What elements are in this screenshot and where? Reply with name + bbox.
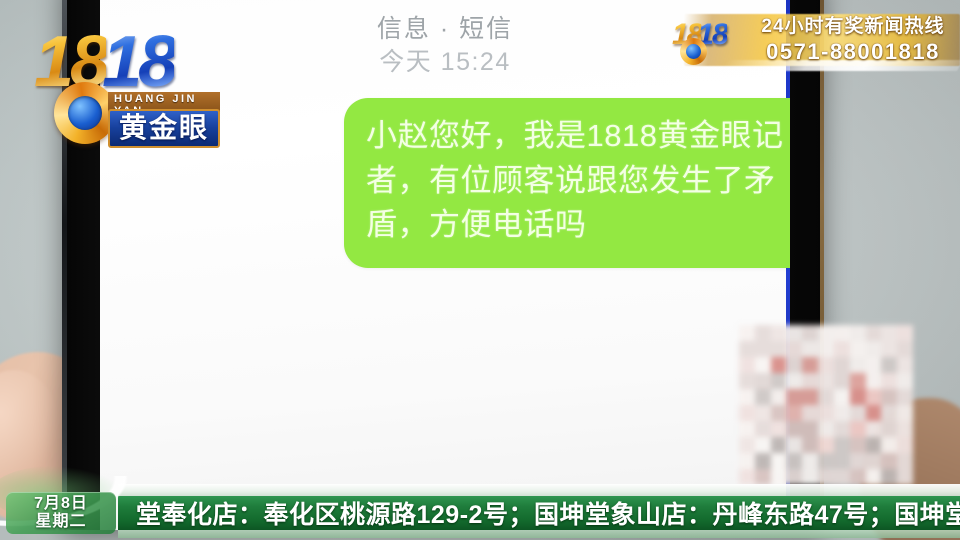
mosaic-cell — [802, 405, 818, 421]
mosaic-cell — [771, 325, 787, 341]
mosaic-cell — [818, 357, 834, 373]
mosaic-cell — [739, 437, 755, 453]
mosaic-cell — [739, 389, 755, 405]
mosaic-cell — [850, 341, 866, 357]
mosaic-cell — [771, 373, 787, 389]
mosaic-cell — [850, 405, 866, 421]
station-logo-ring-icon — [54, 82, 116, 144]
mosaic-cell — [739, 405, 755, 421]
mosaic-cell — [850, 389, 866, 405]
mosaic-cell — [866, 389, 882, 405]
mosaic-cell — [866, 421, 882, 437]
station-logo: 1818 HUANG JIN YAN 黄金眼 — [34, 26, 220, 150]
hotline-banner: 1818 24小时有奖新闻热线 0571-88001818 — [660, 14, 960, 72]
date-badge-weekday: 星期二 — [35, 513, 86, 531]
mosaic-cell — [786, 341, 802, 357]
mosaic-cell — [818, 325, 834, 341]
mosaic-cell — [881, 421, 897, 437]
mosaic-cell — [897, 325, 913, 341]
date-badge: 7月8日 星期二 — [6, 492, 116, 534]
ticker-bar: 堂奉化店：奉化区桃源路129-2号；国坤堂象山店：丹峰东路47号；国坤堂台州 — [118, 496, 960, 530]
mosaic-cell — [866, 325, 882, 341]
mosaic-cell — [739, 421, 755, 437]
mosaic-cell — [755, 437, 771, 453]
mosaic-cell — [818, 341, 834, 357]
mosaic-cell — [881, 341, 897, 357]
station-logo-digits-blue: 18 — [102, 22, 174, 102]
mosaic-cell — [881, 357, 897, 373]
mosaic-cell — [834, 325, 850, 341]
mosaic-cell — [897, 437, 913, 453]
mosaic-cell — [834, 453, 850, 469]
mosaic-cell — [818, 453, 834, 469]
mosaic-cell — [802, 341, 818, 357]
mosaic-cell — [866, 437, 882, 453]
hotline-title: 24小时有奖新闻热线 — [748, 15, 958, 39]
mosaic-cell — [802, 437, 818, 453]
mosaic-cell — [818, 405, 834, 421]
mosaic-cell — [771, 421, 787, 437]
mosaic-cell — [755, 373, 771, 389]
hotline-logo-ring-icon — [680, 38, 707, 65]
mosaic-cell — [771, 389, 787, 405]
mosaic-cell — [834, 421, 850, 437]
ticker-bottom-rail — [118, 530, 960, 538]
mosaic-cell — [818, 421, 834, 437]
mosaic-cell — [802, 373, 818, 389]
ticker-text: 堂奉化店：奉化区桃源路129-2号；国坤堂象山店：丹峰东路47号；国坤堂台州 — [118, 496, 960, 530]
mosaic-cell — [786, 373, 802, 389]
mosaic-cell — [866, 357, 882, 373]
date-badge-date: 7月8日 — [34, 495, 88, 513]
mosaic-cell — [771, 453, 787, 469]
mosaic-cell — [866, 405, 882, 421]
mosaic-cell — [866, 341, 882, 357]
mosaic-cell — [802, 453, 818, 469]
mosaic-cell — [802, 325, 818, 341]
bottom-ticker: 堂奉化店：奉化区桃源路129-2号；国坤堂象山店：丹峰东路47号；国坤堂台州 7… — [0, 480, 960, 540]
mosaic-cell — [850, 357, 866, 373]
mosaic-cell — [818, 389, 834, 405]
mosaic-cell — [881, 453, 897, 469]
mosaic-cell — [881, 437, 897, 453]
mosaic-cell — [786, 421, 802, 437]
mosaic-cell — [771, 437, 787, 453]
mosaic-cell — [818, 373, 834, 389]
ticker-top-rail — [118, 484, 960, 496]
mosaic-cell — [786, 357, 802, 373]
mosaic-cell — [771, 405, 787, 421]
mosaic-cell — [897, 421, 913, 437]
mosaic-cell — [786, 453, 802, 469]
mosaic-cell — [786, 389, 802, 405]
mosaic-cell — [881, 373, 897, 389]
mosaic-cell — [755, 405, 771, 421]
mosaic-cell — [897, 373, 913, 389]
hotline-number: 0571-88001818 — [748, 39, 958, 64]
station-logo-digits: 1818 — [34, 26, 174, 98]
mosaic-cell — [739, 453, 755, 469]
mosaic-cell — [881, 325, 897, 341]
mosaic-cell — [755, 325, 771, 341]
mosaic-cell — [834, 373, 850, 389]
mosaic-cell — [755, 389, 771, 405]
mosaic-cell — [771, 341, 787, 357]
mosaic-cell — [897, 389, 913, 405]
mosaic-cell — [850, 373, 866, 389]
station-logo-name: 黄金眼 — [108, 109, 220, 148]
hotline-text: 24小时有奖新闻热线 0571-88001818 — [748, 15, 958, 64]
mosaic-cell — [739, 373, 755, 389]
mosaic-cell — [881, 389, 897, 405]
mosaic-cell — [786, 325, 802, 341]
mosaic-cell — [850, 437, 866, 453]
mosaic-cell — [802, 357, 818, 373]
mosaic-cell — [834, 341, 850, 357]
mosaic-cell — [897, 453, 913, 469]
mosaic-cell — [755, 453, 771, 469]
message-bubble-outgoing[interactable]: 小赵您好，我是1818黄金眼记者，有位顾客说跟您发生了矛盾，方便电话吗 — [344, 98, 790, 268]
mosaic-cell — [818, 437, 834, 453]
mosaic-cell — [834, 437, 850, 453]
mosaic-cell — [755, 357, 771, 373]
mosaic-cell — [834, 405, 850, 421]
mosaic-cell — [739, 341, 755, 357]
mosaic-cell — [866, 453, 882, 469]
mosaic-cell — [850, 325, 866, 341]
mosaic-cell — [755, 421, 771, 437]
tv-broadcast-screenshot: 信息 · 短信 今天 15:24 小赵您好，我是1818黄金眼记者，有位顾客说跟… — [0, 0, 960, 540]
mosaic-cell — [802, 389, 818, 405]
mosaic-cell — [866, 373, 882, 389]
mosaic-cell — [834, 389, 850, 405]
mosaic-cell — [897, 405, 913, 421]
mosaic-cell — [771, 357, 787, 373]
mosaic-cell — [786, 405, 802, 421]
mosaic-cell — [755, 341, 771, 357]
mosaic-censor-block — [739, 325, 913, 485]
mosaic-cell — [802, 421, 818, 437]
mosaic-cell — [897, 341, 913, 357]
mosaic-cell — [739, 357, 755, 373]
message-bubble-text: 小赵您好，我是1818黄金眼记者，有位顾客说跟您发生了矛盾，方便电话吗 — [366, 118, 783, 242]
mosaic-cell — [834, 357, 850, 373]
mosaic-cell — [881, 405, 897, 421]
mosaic-cell — [739, 325, 755, 341]
mosaic-cell — [786, 437, 802, 453]
mosaic-cell — [850, 421, 866, 437]
mosaic-cell — [897, 357, 913, 373]
hotline-logo: 1818 — [672, 18, 750, 66]
mosaic-cell — [850, 453, 866, 469]
